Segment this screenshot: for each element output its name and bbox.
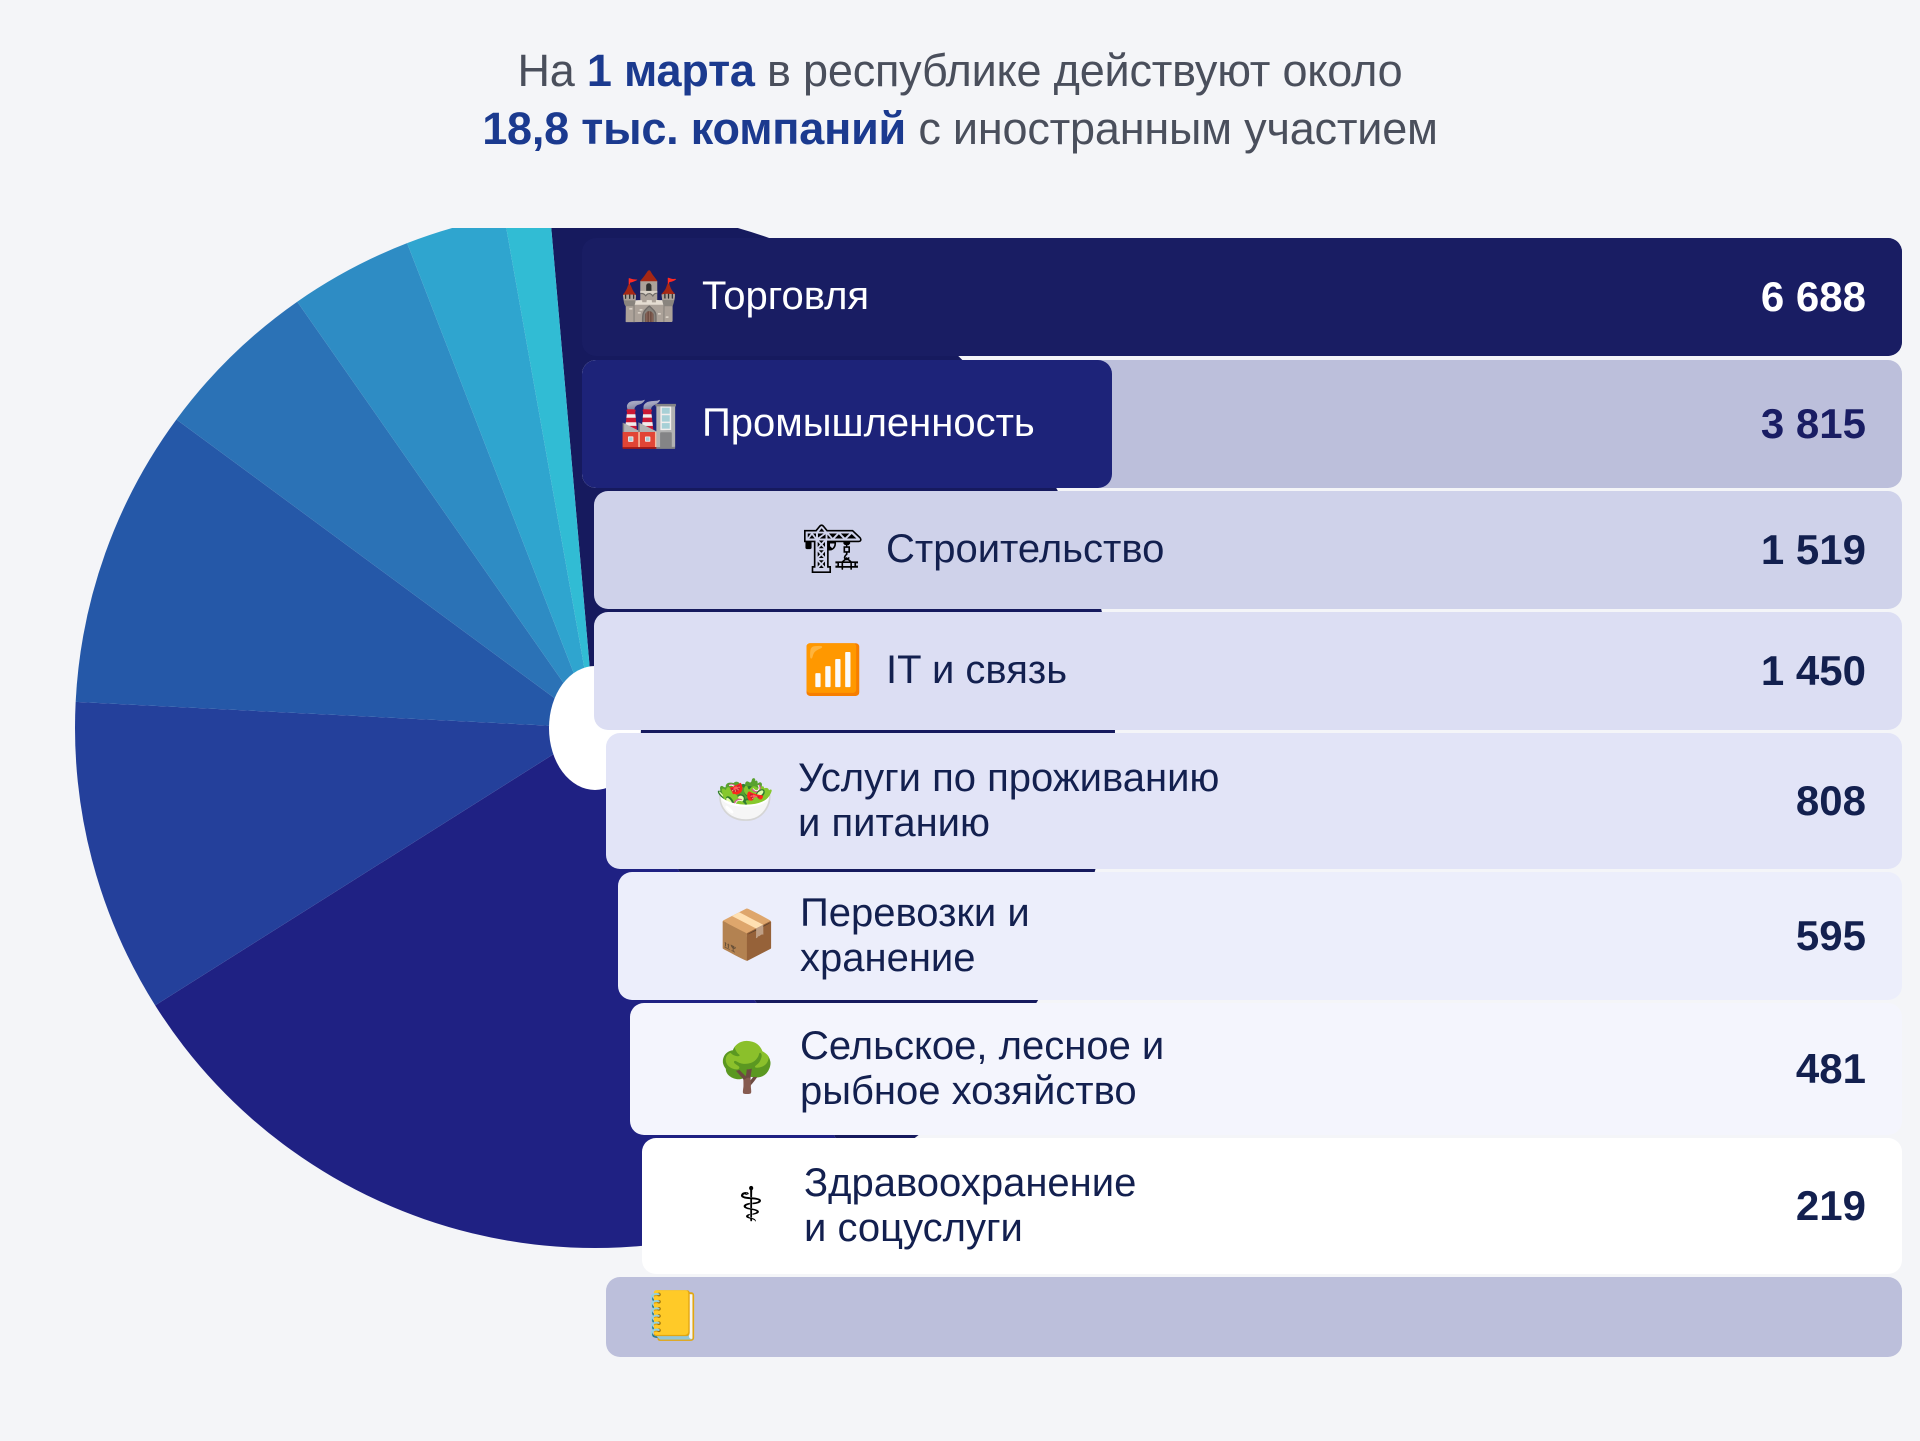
legend-table: 🏰Торговля6 688🏭Промышленность3 815🏗Строи… [582,238,1902,1357]
row-label: Здравоохранение и соцуслуги [804,1161,1672,1251]
legend-row[interactable]: 🏭Промышленность3 815 [582,360,1902,488]
title-line2-highlight: 18,8 тыс. компаний [482,103,906,154]
legend-row[interactable]: ⚕Здравоохранение и соцуслуги219 [642,1138,1902,1274]
legend-row[interactable]: 🏰Торговля6 688 [582,238,1902,356]
infographic-canvas: На 1 марта в республике действуют около … [0,0,1920,1441]
books-education-icon: 📒 [634,1278,712,1356]
title-line1-suffix: в республике действуют около [755,45,1403,96]
row-value: 3 815 [1672,400,1902,448]
title-line-1: На 1 марта в республике действуют около [0,42,1920,100]
row-value: 481 [1672,1045,1902,1093]
kremlin-trade-icon: 🏰 [610,258,688,336]
factory-industry-icon: 🏭 [610,385,688,463]
row-value: 808 [1672,777,1902,825]
title-line1-highlight: 1 марта [587,45,755,96]
delivery-transport-storage-icon: 📦 [708,897,786,975]
crane-construction-icon: 🏗 [794,511,872,589]
forest-agriculture-icon: 🌳 [708,1030,786,1108]
row-label: IT и связь [886,648,1672,693]
legend-row[interactable]: 🌳Сельское, лесное и рыбное хозяйство481 [630,1003,1902,1135]
legend-row[interactable]: 🏗Строительство1 519 [594,491,1902,609]
row-value: 595 [1672,912,1902,960]
title-line2-suffix: с иностранным участием [906,103,1438,154]
title-line-2: 18,8 тыс. компаний с иностранным участие… [0,100,1920,158]
row-label: Промышленность [702,401,1672,446]
row-value: 6 688 [1672,273,1902,321]
row-label: Торговля [702,274,1672,319]
health-social-services-icon: ⚕ [712,1167,790,1245]
row-value: 1 450 [1672,647,1902,695]
row-value: 1 519 [1672,526,1902,574]
food-accommodation-icon: 🥗 [706,762,784,840]
title-line1-prefix: На [517,45,586,96]
legend-row[interactable]: 📦Перевозки и хранение595 [618,872,1902,1000]
wifi-it-communication-icon: 📶 [794,632,872,710]
row-value: 219 [1672,1182,1902,1230]
row-label: Строительство [886,527,1672,572]
row-label: Услуги по проживанию и питанию [798,756,1672,846]
row-label: Перевозки и хранение [800,891,1672,981]
legend-row[interactable]: 📒 [606,1277,1902,1357]
row-label: Сельское, лесное и рыбное хозяйство [800,1024,1672,1114]
legend-row[interactable]: 🥗Услуги по проживанию и питанию808 [606,733,1902,869]
page-title: На 1 марта в республике действуют около … [0,42,1920,157]
legend-row[interactable]: 📶IT и связь1 450 [594,612,1902,730]
